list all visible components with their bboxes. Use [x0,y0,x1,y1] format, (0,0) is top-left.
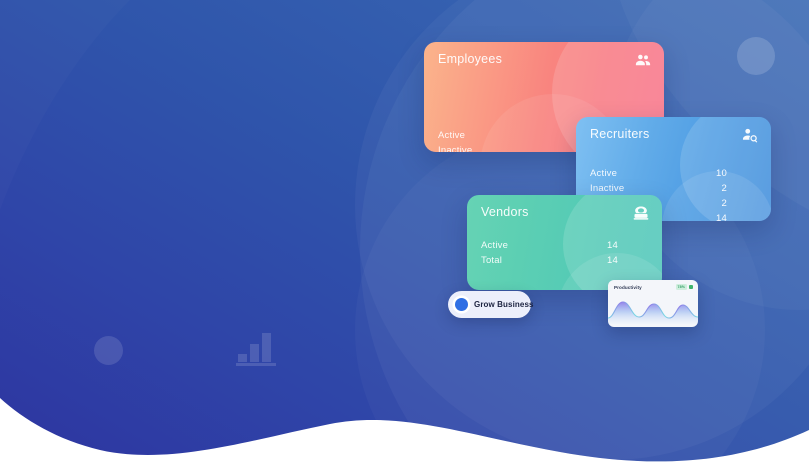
card-title-employees: Employees [438,52,502,66]
decorative-circle-left [94,336,123,365]
card-rows-vendors: Active 14 Total 14 [481,238,648,268]
decorative-circle-right [737,37,775,75]
background-blob [0,0,809,472]
productivity-badge: 78% [676,284,688,290]
productivity-area-chart [608,294,698,324]
row-active: Active 10 [590,166,757,181]
row-value: 2 [590,181,727,196]
card-title-recruiters: Recruiters [590,127,649,141]
telephone-icon [632,204,650,222]
productivity-widget[interactable]: Productivity 78% [608,280,698,327]
bar-chart-icon [236,330,280,366]
card-title-vendors: Vendors [481,205,529,219]
illustration-canvas: Employees Active 8 Inactive 1 Pending To… [0,0,809,472]
row-value: 10 [590,166,727,181]
grow-business-label: Grow Business [474,300,534,309]
row-inactive: Inactive 2 [590,181,757,196]
row-value: 14 [481,238,618,253]
grow-business-button[interactable]: Grow Business [448,291,531,318]
green-square-icon [689,285,693,289]
people-group-icon [634,51,652,69]
filled-circle-icon [455,298,468,311]
person-search-icon [741,126,759,144]
row-total: Total 14 [481,253,648,268]
row-active: Active 14 [481,238,648,253]
row-value: 14 [481,253,618,268]
productivity-title: Productivity [614,285,642,290]
card-vendors[interactable]: Vendors Active 14 Total 14 [467,195,662,290]
